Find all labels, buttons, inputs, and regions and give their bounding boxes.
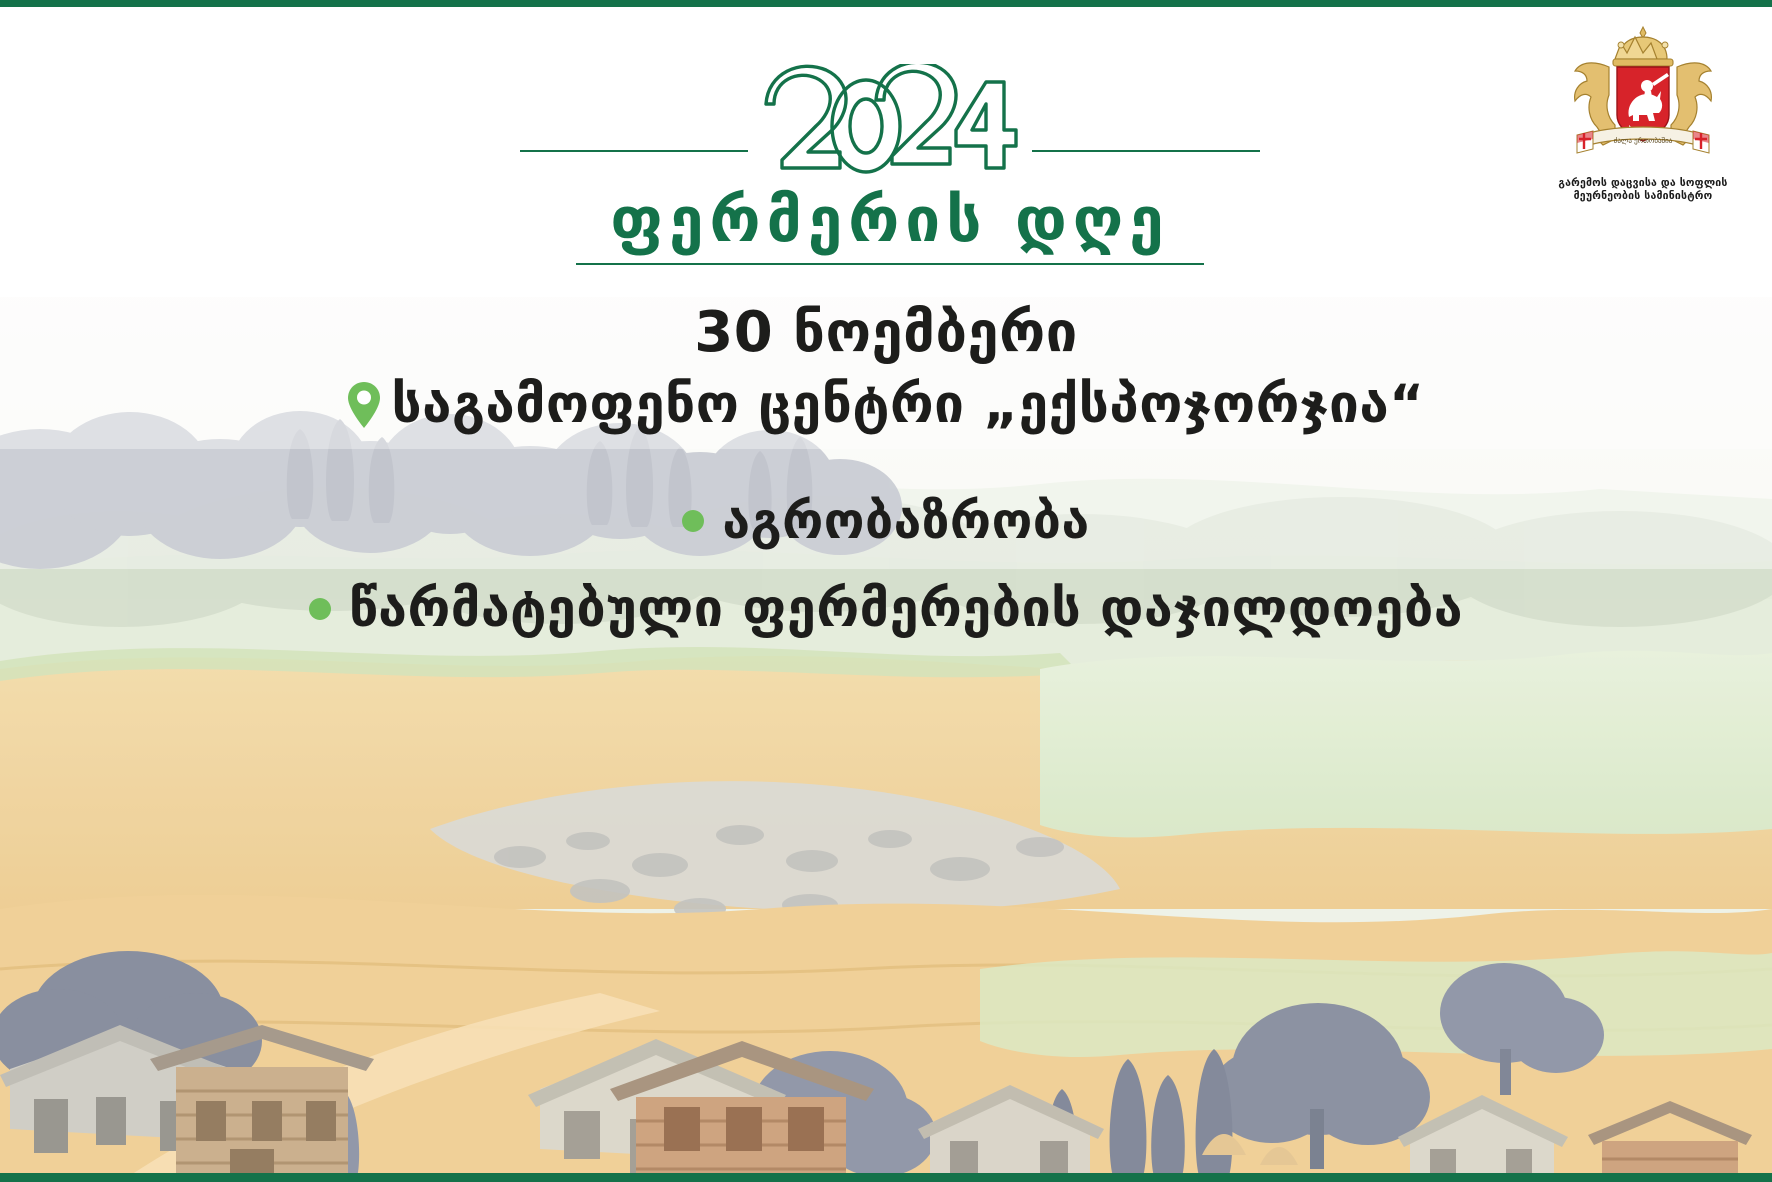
top-green-rule <box>0 0 1772 7</box>
event-activities-list: აგრობაზრობა წარმატებული ფერმერების დაჯილ… <box>0 489 1772 644</box>
rule-right <box>1032 150 1260 152</box>
ministry-emblem: ძალა ერთობაშია გარემოს დაცვისა და სოფლის… <box>1550 21 1736 203</box>
poster: ფერმერის დღე <box>0 0 1772 1182</box>
coat-of-arms-icon: ძალა ერთობაშია <box>1559 21 1727 173</box>
event-venue-text: საგამოფენო ცენტრი „ექსპოჯორჯია“ <box>391 374 1424 437</box>
bottom-green-rule <box>0 1173 1772 1182</box>
rule-left <box>520 150 748 152</box>
ministry-name-line2: მეურნეობის სამინისტრო <box>1550 190 1736 203</box>
year-row <box>520 62 1260 187</box>
activity-label: აგრობაზრობა <box>722 489 1089 554</box>
list-item: წარმატებული ფერმერების დაჯილდოება <box>0 576 1772 644</box>
location-pin-icon <box>347 381 381 429</box>
activity-label: წარმატებული ფერმერების დაჯილდოება <box>349 576 1463 644</box>
page-title: ფერმერის დღე <box>520 189 1260 251</box>
ministry-name-line1: გარემოს დაცვისა და სოფლის <box>1550 177 1736 190</box>
header-band: ფერმერის დღე <box>0 7 1772 297</box>
ministry-name: გარემოს დაცვისა და სოფლის მეურნეობის სამ… <box>1550 177 1736 203</box>
list-item: აგრობაზრობა <box>0 489 1772 554</box>
banner-motto: ძალა ერთობაშია <box>1614 136 1673 145</box>
event-details: 30 ნოემბერი საგამოფენო ცენტრი „ექსპოჯორჯ… <box>0 300 1772 643</box>
title-underline <box>576 263 1204 265</box>
bullet-dot-icon <box>309 598 331 620</box>
year-2024-mark <box>760 64 1020 188</box>
event-venue-row: საგამოფენო ცენტრი „ექსპოჯორჯია“ <box>0 374 1772 437</box>
event-date: 30 ნოემბერი <box>0 300 1772 366</box>
event-logo-lockup: ფერმერის დღე <box>520 62 1260 267</box>
bullet-dot-icon <box>682 510 704 532</box>
